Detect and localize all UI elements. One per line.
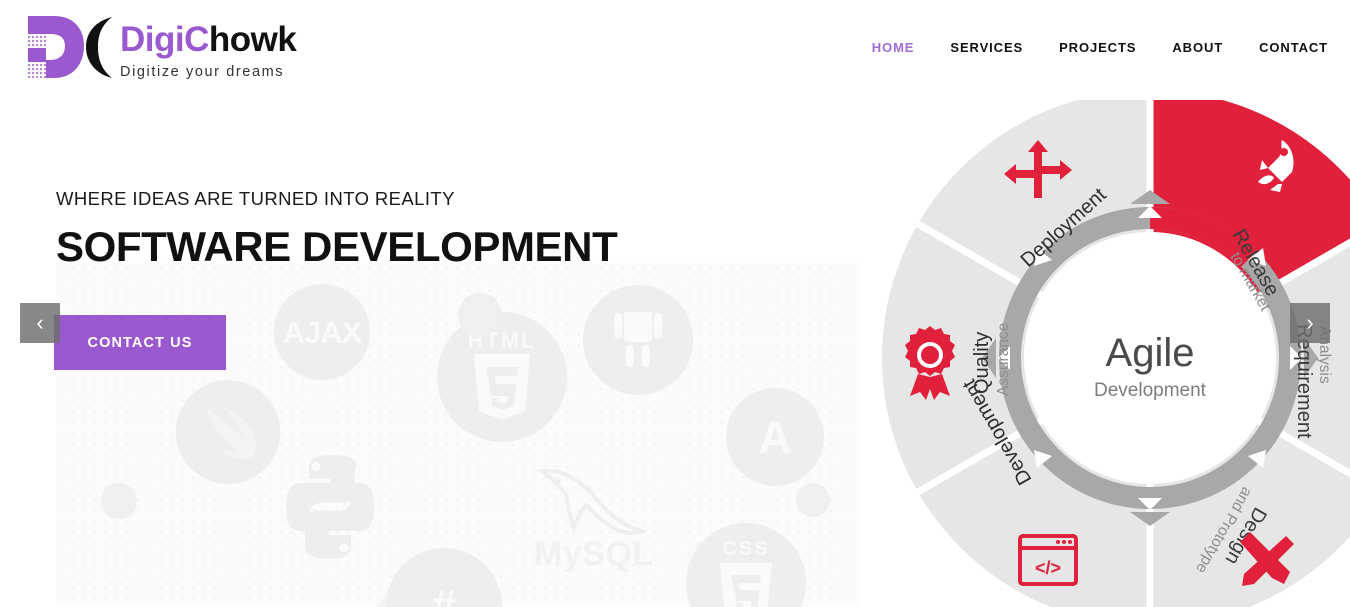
- svg-text:</>: </>: [1035, 558, 1061, 578]
- ajax-label: AJAX: [283, 317, 362, 348]
- brand-wordmark: DigiChowk Digitize your dreams: [120, 8, 296, 80]
- csharp-label: #: [432, 584, 456, 607]
- brand-name-digi: Digi: [120, 20, 184, 59]
- brand-logo[interactable]: DigiChowk Digitize your dreams: [20, 8, 296, 88]
- mysql-label: MySQL: [534, 535, 654, 574]
- nav-item-about[interactable]: ABOUT: [1172, 40, 1223, 55]
- nav-item-contact[interactable]: CONTACT: [1259, 40, 1328, 55]
- decorative-dot: [101, 483, 137, 519]
- csharp-icon: #: [386, 548, 502, 607]
- carousel-next-button[interactable]: ›: [1290, 303, 1330, 343]
- nav-item-projects[interactable]: PROJECTS: [1059, 40, 1136, 55]
- swift-icon: [176, 380, 280, 484]
- digichowk-dc-monogram-icon: [20, 8, 116, 88]
- html5-icon: HTML: [437, 312, 567, 442]
- android-icon: [583, 285, 693, 395]
- agile-center-title: Agile: [1106, 331, 1195, 375]
- agile-development-diagram: Agile Development Release to market Requ…: [880, 88, 1350, 607]
- css3-icon: CSS: [686, 523, 806, 607]
- carousel-prev-button[interactable]: ‹: [20, 303, 60, 343]
- decorative-dot: [796, 483, 830, 517]
- agile-center-subtitle: Development: [1094, 380, 1207, 401]
- label-quality-line2: Assurance: [995, 323, 1012, 396]
- mysql-icon: MySQL: [536, 463, 660, 564]
- decorative-dot: [458, 293, 502, 337]
- ajax-icon: AJAX: [274, 284, 370, 380]
- brand-name-howk: howk: [209, 20, 296, 59]
- main-navigation: HOME SERVICES PROJECTS ABOUT CONTACT: [872, 40, 1328, 55]
- python-icon: [278, 453, 382, 566]
- contact-us-button[interactable]: CONTACT US: [54, 315, 226, 370]
- hero-title: SOFTWARE DEVELOPMENT: [56, 223, 617, 271]
- css3-label: CSS: [722, 539, 769, 559]
- brand-tagline: Digitize your dreams: [120, 64, 296, 80]
- angular-icon: A: [726, 388, 824, 486]
- nav-item-services[interactable]: SERVICES: [950, 40, 1023, 55]
- chevron-left-icon: ‹: [36, 312, 43, 334]
- hero-copy: WHERE IDEAS ARE TURNED INTO REALITY SOFT…: [56, 188, 617, 271]
- nav-item-home[interactable]: HOME: [872, 40, 915, 55]
- label-quality-line1: Quality: [971, 332, 993, 394]
- chevron-right-icon: ›: [1306, 312, 1313, 334]
- hero-subtitle: WHERE IDEAS ARE TURNED INTO REALITY: [56, 188, 617, 210]
- angular-label: A: [758, 414, 791, 460]
- site-header: DigiChowk Digitize your dreams HOME SERV…: [0, 0, 1350, 100]
- brand-name-c: C: [184, 20, 209, 59]
